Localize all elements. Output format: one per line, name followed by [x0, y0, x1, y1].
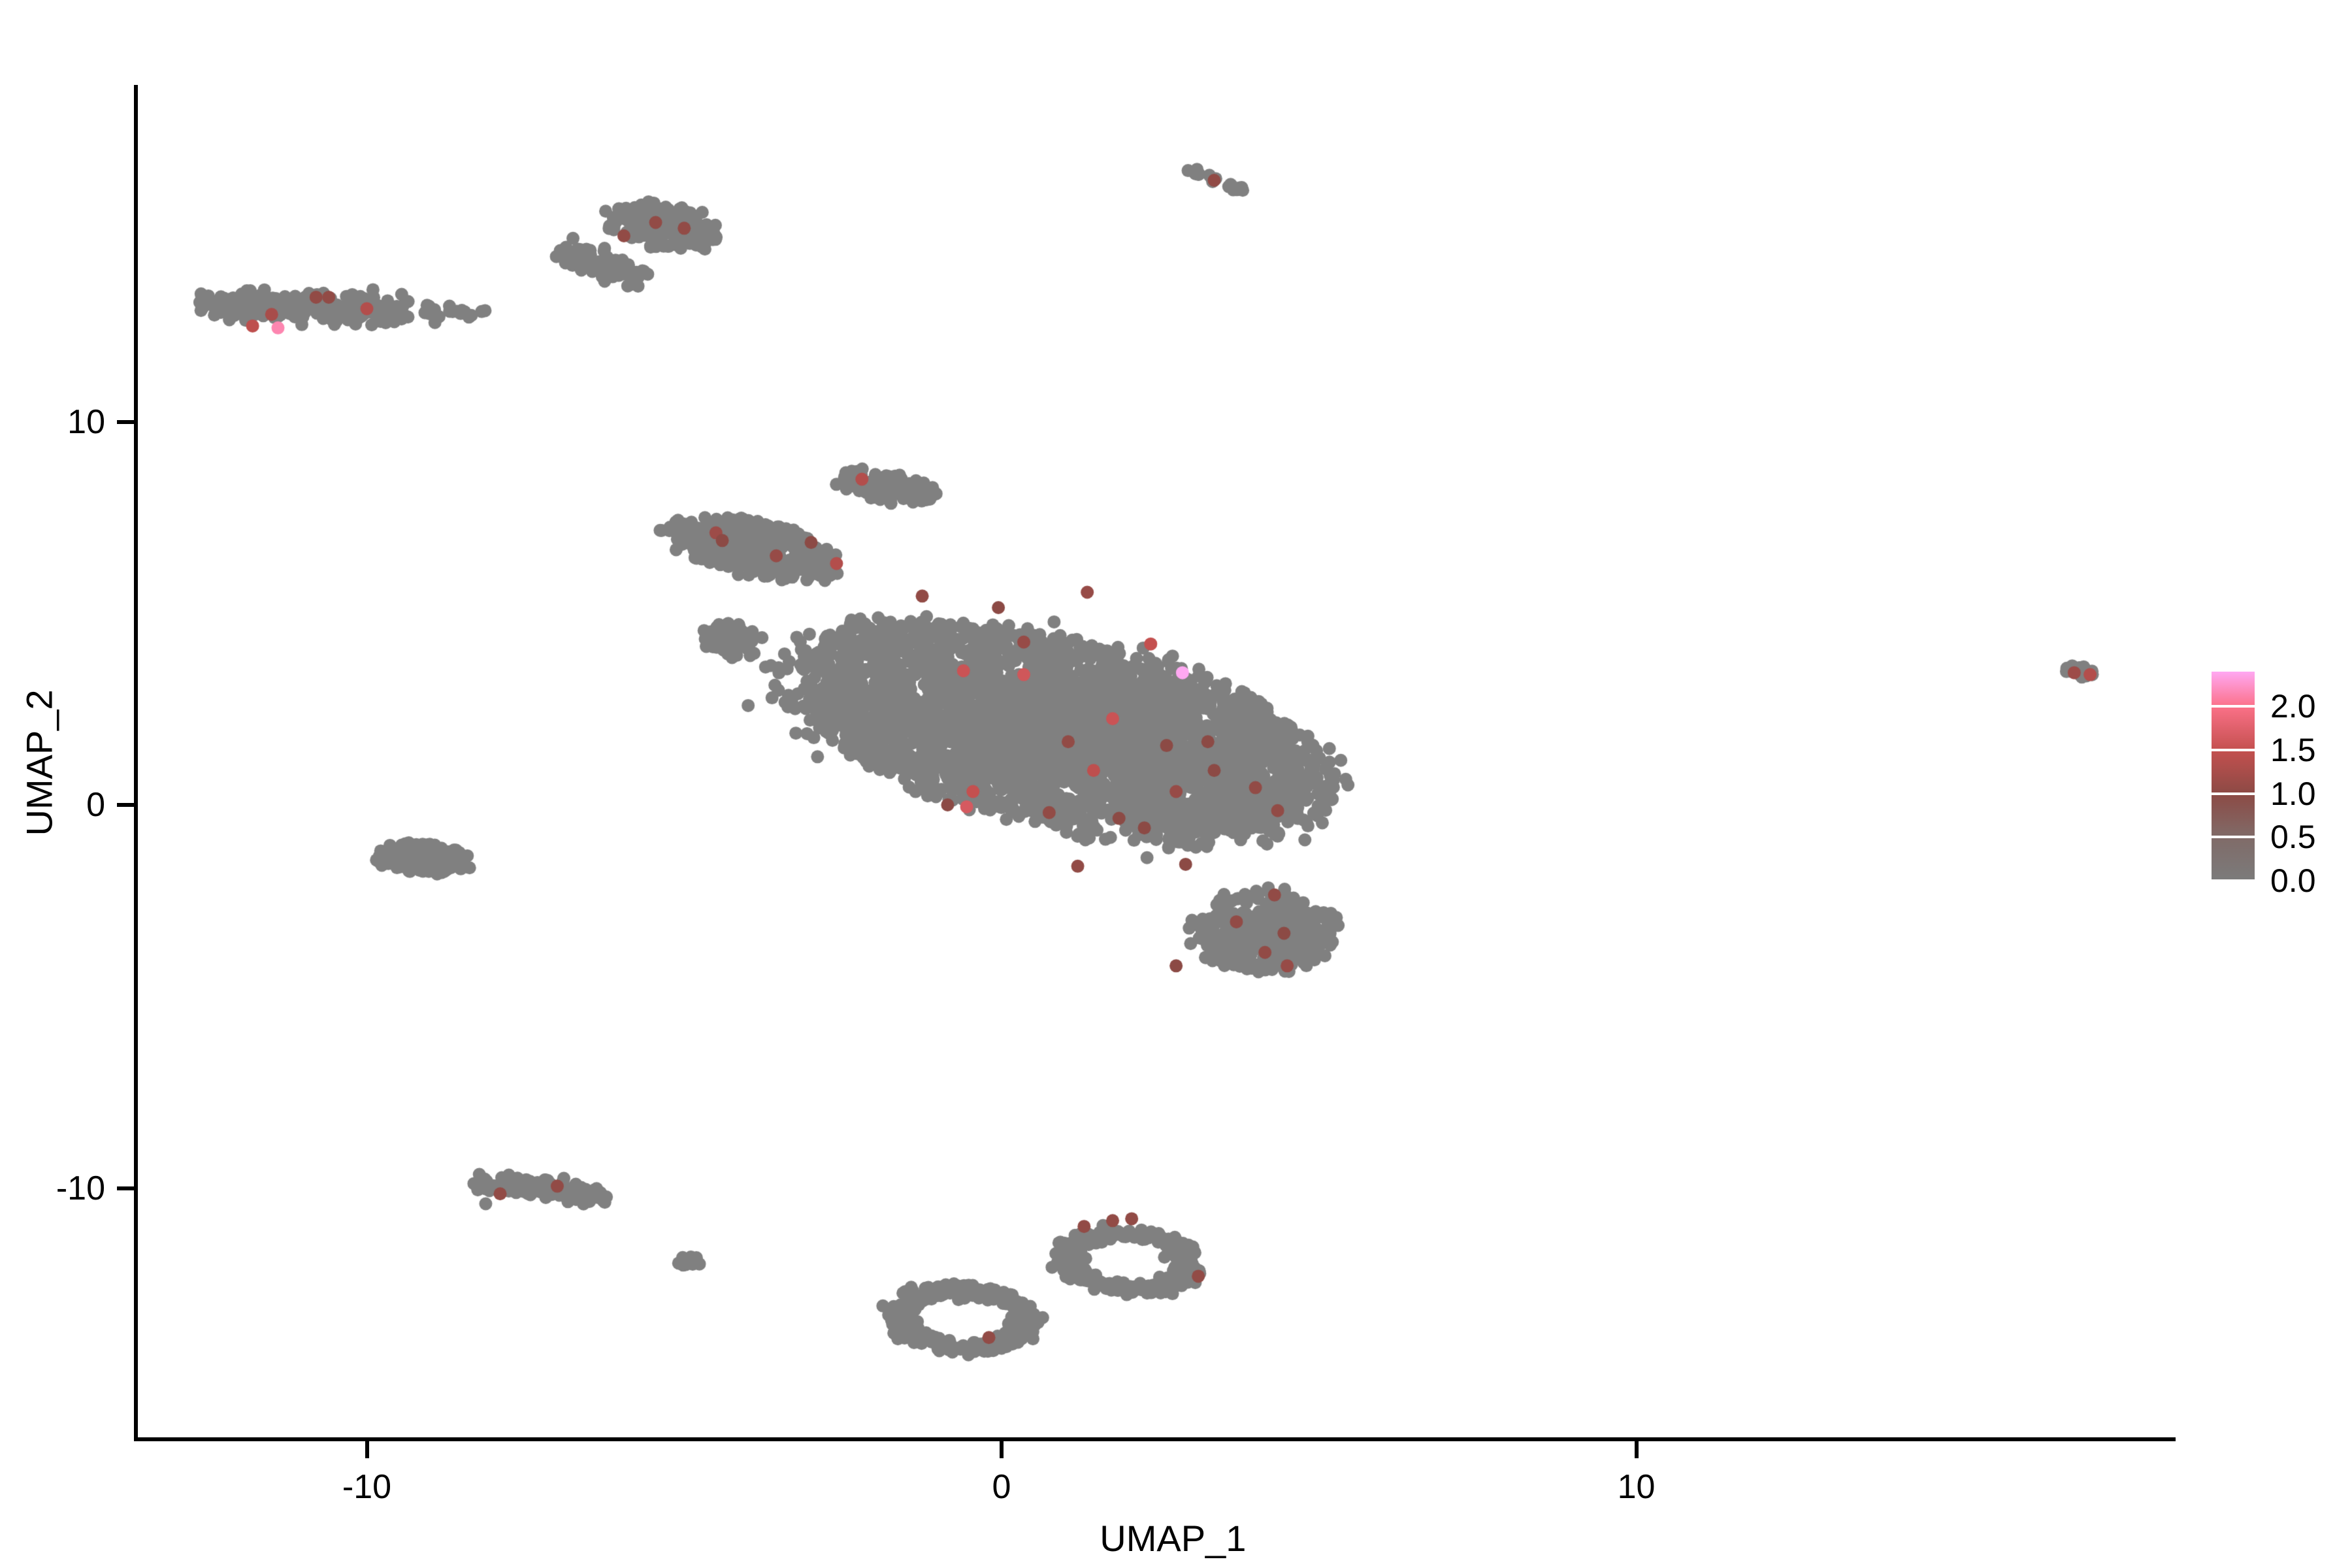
colorbar-tickmark	[2212, 836, 2255, 838]
x-axis-title: UMAP_1	[1100, 1517, 1246, 1560]
umap-feature-plot: Olfr1508 -10010-10010 UMAP_1 UMAP_2 0.00…	[0, 0, 2352, 1568]
colorbar-gradient	[2212, 672, 2255, 881]
colorbar-tick-label: 1.0	[2270, 775, 2316, 813]
colorbar-tick-label: 1.5	[2270, 731, 2316, 769]
colorbar-tickmark	[2212, 705, 2255, 708]
colorbar-tickmark	[2212, 749, 2255, 751]
colorbar-tickmark	[2212, 792, 2255, 795]
scatter-canvas	[0, 0, 2352, 1568]
y-axis-title: UMAP_2	[18, 678, 61, 848]
colorbar-tick-label: 0.0	[2270, 862, 2316, 900]
colorbar-tick-label: 2.0	[2270, 687, 2316, 725]
colorbar-tickmark	[2212, 879, 2255, 882]
colorbar-tick-label: 0.5	[2270, 818, 2316, 856]
